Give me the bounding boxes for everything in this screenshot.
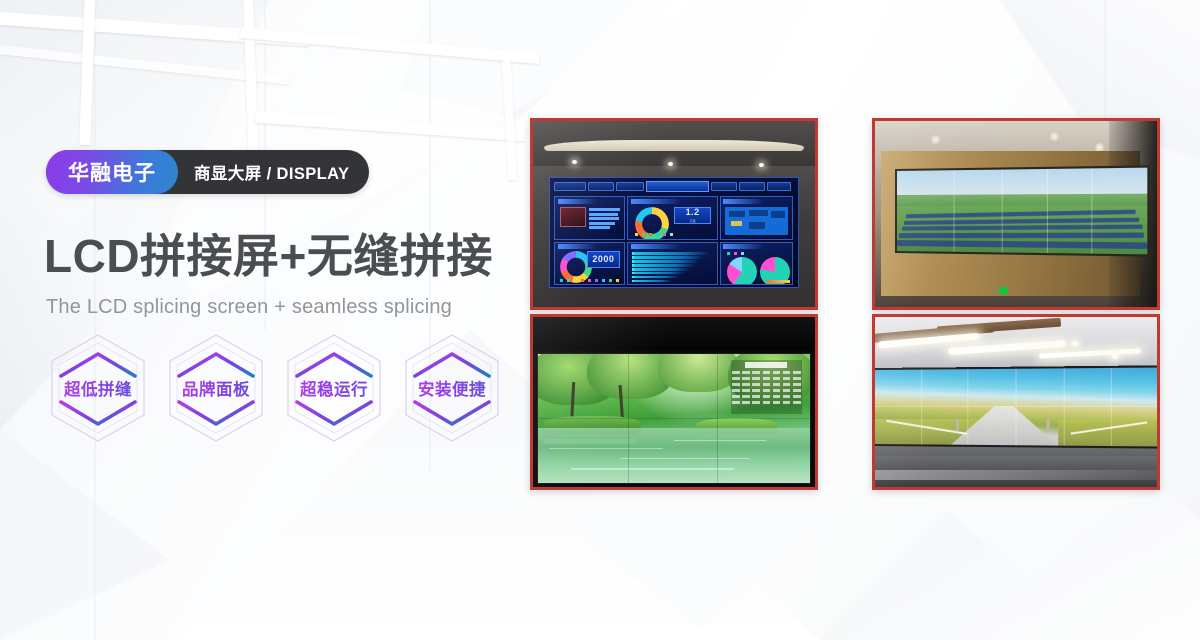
page-subtitle: The LCD splicing screen + seamless splic… <box>46 296 452 319</box>
badge-category-label: 商显大屏 / DISPLAY <box>178 150 369 194</box>
page-title: LCD拼接屏+无缝拼接 <box>44 232 493 282</box>
dashboard-panel: 2000 <box>554 242 625 285</box>
ceiling-beam <box>240 27 540 64</box>
ceiling-beam <box>255 111 525 142</box>
dashboard-screen: 1.2 万座 <box>549 177 800 289</box>
ceiling-beam <box>0 44 290 84</box>
feature-label: 品牌面板 <box>182 376 250 400</box>
video-wall-screen <box>537 353 811 484</box>
feature-label: 超稳运行 <box>300 376 368 400</box>
photo-beach-videowall <box>872 314 1160 490</box>
feature-item-0: 超低拼缝 <box>48 332 148 444</box>
ceiling-beam <box>79 0 95 145</box>
brand-badge: 华融电子 商显大屏 / DISPLAY <box>46 150 369 194</box>
photo-solar-videowall <box>872 118 1160 310</box>
dashboard-panel <box>720 242 794 285</box>
dashboard-panel <box>627 242 718 285</box>
dashboard-stat-value: 1.2 <box>686 208 700 217</box>
photo-willow-videowall <box>530 314 818 490</box>
dashboard-stat-value: 2000 <box>592 255 614 264</box>
dashboard-panel <box>720 196 794 239</box>
ceiling-beam <box>243 0 259 170</box>
photo-dashboard-videowall: 1.2 万座 <box>530 118 818 310</box>
dashboard-stat-unit: 万座 <box>690 219 696 223</box>
ceiling-beam <box>502 60 517 180</box>
feature-label: 超低拼缝 <box>64 376 132 400</box>
dashboard-panel <box>554 196 625 239</box>
calendar-overlay <box>731 360 802 414</box>
video-wall-screen <box>875 365 1157 448</box>
brand-name: 华融电子 <box>46 150 178 194</box>
feature-list: 超低拼缝 品牌面板 超稳运行 <box>48 332 502 444</box>
ceiling-beam <box>0 11 310 47</box>
promo-banner: 华融电子 商显大屏 / DISPLAY LCD拼接屏+无缝拼接 The LCD … <box>0 0 1200 640</box>
feature-item-3: 安装便捷 <box>402 332 502 444</box>
feature-label: 安装便捷 <box>418 376 486 400</box>
feature-item-1: 品牌面板 <box>166 332 266 444</box>
video-wall-screen <box>895 166 1150 257</box>
exit-sign-icon <box>999 287 1008 294</box>
dashboard-panel: 1.2 万座 <box>627 196 718 239</box>
feature-item-2: 超稳运行 <box>284 332 384 444</box>
